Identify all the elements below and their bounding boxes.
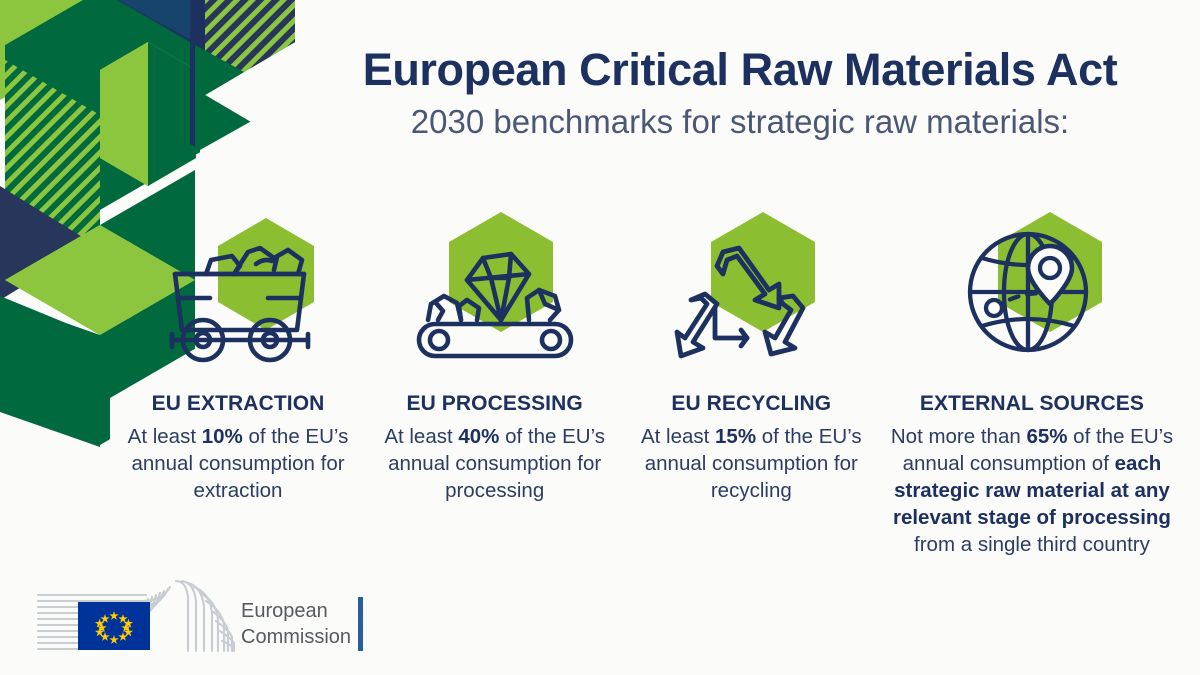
- benchmark-direction: At least: [641, 425, 715, 448]
- benchmark-body: At least 10% of the EU’s annual consumpt…: [112, 423, 364, 504]
- benchmark-percent: 65%: [1026, 425, 1067, 448]
- conveyor-belt-gem-icon: [405, 208, 585, 380]
- benchmark-body: At least 40% of the EU’s annual consumpt…: [369, 423, 621, 504]
- globe-location-pin-icon: [942, 208, 1122, 380]
- benchmarks-row: EU EXTRACTION At least 10% of the EU’s a…: [112, 208, 1182, 558]
- logo-line-1: European: [241, 600, 328, 622]
- logo-line-2: Commission: [241, 626, 351, 648]
- benchmark-direction: At least: [384, 425, 458, 448]
- benchmark-percent: 40%: [458, 425, 499, 448]
- european-commission-logo: European Commission: [36, 575, 366, 655]
- page-subtitle: 2030 benchmarks for strategic raw materi…: [300, 104, 1180, 140]
- logo-accent-bar: [358, 597, 363, 651]
- benchmark-heading: EXTERNAL SOURCES: [920, 392, 1144, 416]
- benchmark-eu-processing: EU PROCESSING At least 40% of the EU’s a…: [369, 208, 621, 504]
- infographic-poster: European Critical Raw Materials Act 2030…: [0, 0, 1200, 675]
- benchmark-external-sources: EXTERNAL SOURCES Not more than 65% of th…: [882, 208, 1182, 558]
- benchmark-heading: EU RECYCLING: [671, 392, 831, 416]
- benchmark-body: At least 15% of the EU’s annual consumpt…: [625, 423, 877, 504]
- benchmark-percent: 15%: [715, 425, 756, 448]
- eu-flag: [78, 602, 150, 650]
- benchmark-direction: Not more than: [891, 425, 1027, 448]
- benchmark-eu-extraction: EU EXTRACTION At least 10% of the EU’s a…: [112, 208, 364, 504]
- poster-header: European Critical Raw Materials Act 2030…: [300, 46, 1180, 140]
- benchmark-heading: EU PROCESSING: [406, 392, 582, 416]
- benchmark-percent: 10%: [202, 425, 243, 448]
- benchmark-direction: At least: [128, 425, 202, 448]
- benchmark-body: Not more than 65% of the EU’s annual con…: [882, 423, 1182, 558]
- recycling-arrows-icon: [661, 208, 841, 380]
- benchmark-eu-recycling: EU RECYCLING At least 15% of the EU’s an…: [625, 208, 877, 504]
- page-title: European Critical Raw Materials Act: [300, 46, 1180, 94]
- mining-cart-icon: [148, 208, 328, 380]
- benchmark-detail-2: from a single third country: [914, 533, 1150, 556]
- benchmark-heading: EU EXTRACTION: [152, 392, 325, 416]
